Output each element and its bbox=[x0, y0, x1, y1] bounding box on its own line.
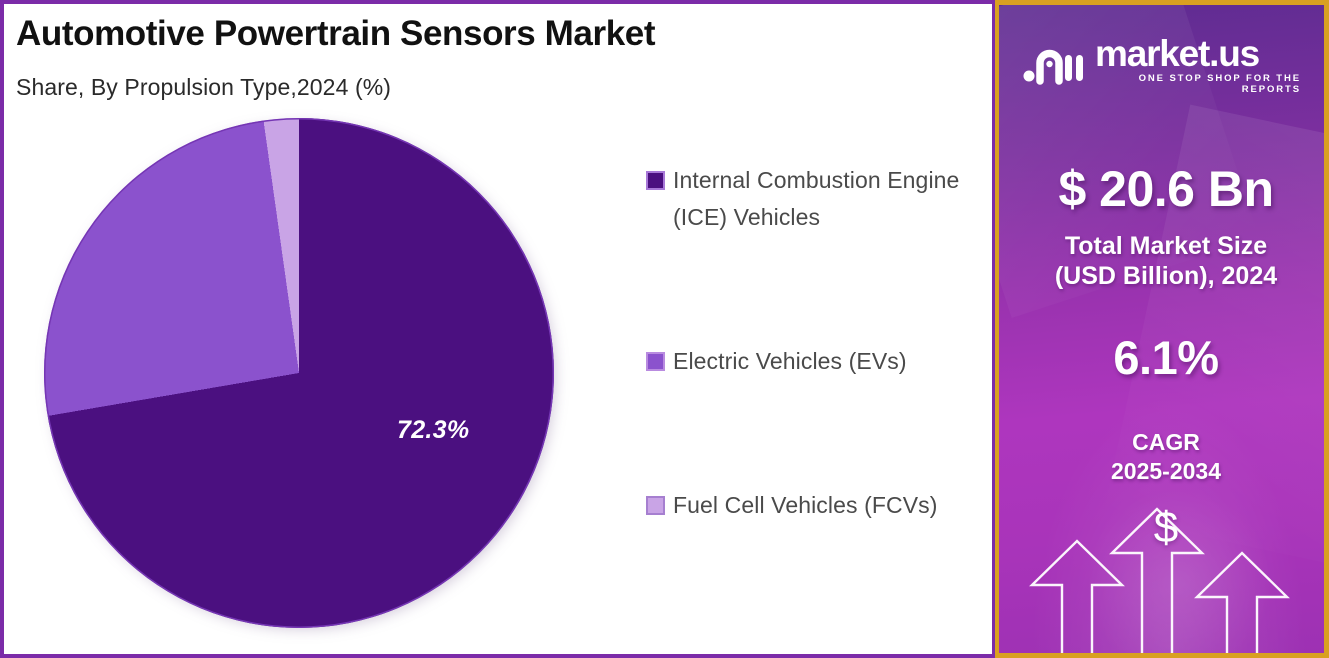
brand-logo[interactable]: market.us ONE STOP SHOP FOR THE REPORTS bbox=[1023, 35, 1301, 95]
legend-swatch-icon bbox=[646, 171, 665, 190]
brand-text-block: market.us ONE STOP SHOP FOR THE REPORTS bbox=[1095, 36, 1301, 95]
cagr-caption-line2: 2025-2034 bbox=[1111, 458, 1221, 484]
market-size-caption-line2: (USD Billion), 2024 bbox=[1055, 262, 1277, 290]
legend-item-ice[interactable]: Internal Combustion Engine (ICE) Vehicle… bbox=[646, 162, 976, 236]
pie-slice-label-ice: 72.3% bbox=[397, 416, 469, 445]
growth-arrows-graphic bbox=[999, 493, 1329, 653]
arrow-center-icon bbox=[1112, 509, 1202, 653]
arrow-right-icon bbox=[1197, 553, 1287, 653]
chart-legend: Internal Combustion Engine (ICE) Vehicle… bbox=[646, 162, 976, 524]
market-size-value: $ 20.6 Bn bbox=[999, 160, 1329, 218]
brand-name: market.us bbox=[1095, 33, 1259, 74]
legend-swatch-icon bbox=[646, 352, 665, 371]
page-title: Automotive Powertrain Sensors Market bbox=[16, 14, 655, 54]
cagr-value: 6.1% bbox=[999, 330, 1329, 385]
pie-chart: 72.3% bbox=[42, 116, 562, 641]
market-size-caption: Total Market Size (USD Billion), 2024 bbox=[999, 231, 1329, 291]
brand-tagline: ONE STOP SHOP FOR THE REPORTS bbox=[1095, 73, 1301, 95]
cagr-caption: CAGR 2025-2034 bbox=[999, 428, 1329, 486]
legend-item-fcv[interactable]: Fuel Cell Vehicles (FCVs) bbox=[646, 487, 976, 524]
legend-swatch-icon bbox=[646, 496, 665, 515]
legend-item-label: Fuel Cell Vehicles (FCVs) bbox=[673, 487, 938, 524]
chart-subtitle: Share, By Propulsion Type,2024 (%) bbox=[16, 74, 391, 101]
chart-panel: Automotive Powertrain Sensors Market Sha… bbox=[0, 0, 995, 658]
legend-item-label: Electric Vehicles (EVs) bbox=[673, 343, 907, 380]
legend-item-ev[interactable]: Electric Vehicles (EVs) bbox=[646, 343, 976, 380]
infographic-root: Automotive Powertrain Sensors Market Sha… bbox=[0, 0, 1329, 658]
pie-slices[interactable] bbox=[44, 118, 554, 628]
market-size-caption-line1: Total Market Size bbox=[1065, 232, 1267, 260]
market-us-logo-icon bbox=[1023, 43, 1085, 87]
arrow-left-icon bbox=[1032, 541, 1122, 653]
cagr-caption-line1: CAGR bbox=[1132, 429, 1200, 455]
summary-panel: market.us ONE STOP SHOP FOR THE REPORTS … bbox=[995, 0, 1329, 658]
legend-item-label: Internal Combustion Engine (ICE) Vehicle… bbox=[673, 162, 976, 236]
